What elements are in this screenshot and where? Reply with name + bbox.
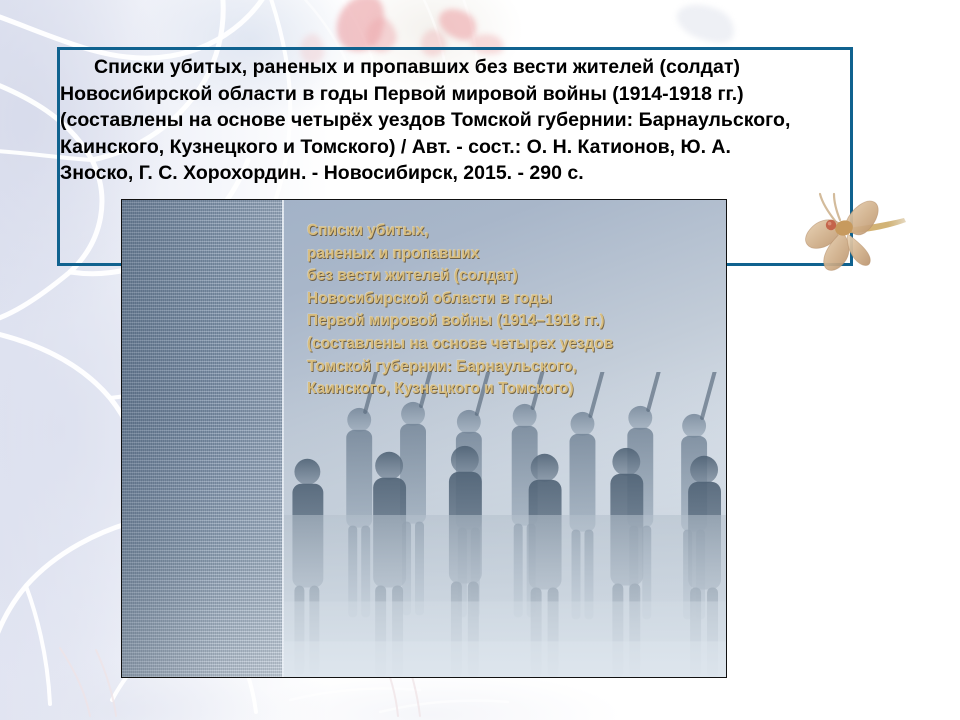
cover-title-line: раненых и пропавших [307, 243, 707, 266]
title-line: Каинского, Кузнецкого и Томского) / Авт.… [60, 134, 860, 161]
book-spine-shading [122, 200, 282, 677]
title-line: Новосибирской области в годы Первой миро… [60, 81, 860, 108]
book-cover-image: Списки убитых, раненых и пропавших без в… [121, 199, 727, 678]
cover-title-line: Новосибирской области в годы [307, 288, 707, 311]
slide-canvas: Списки убитых, раненых и пропавших без в… [0, 0, 960, 720]
cover-title-line: Списки убитых, [307, 220, 707, 243]
dragonfly-icon [800, 192, 920, 307]
petal-shape [672, 0, 740, 50]
title-line: (составлены на основе четырёх уездов Том… [60, 107, 860, 134]
cover-title-line: без вести жителей (солдат) [307, 265, 707, 288]
title-line: Зноско, Г. С. Хорохордин. - Новосибирск,… [60, 160, 860, 187]
title-line: Списки убитых, раненых и пропавших без в… [60, 54, 860, 81]
book-cover-title: Списки убитых, раненых и пропавших без в… [307, 220, 707, 401]
cover-title-line: Первой мировой войны (1914–1918 гг.) [307, 310, 707, 333]
page-title: Списки убитых, раненых и пропавших без в… [60, 54, 860, 187]
cover-title-line: Томской губернии: Барнаульского, [307, 356, 707, 379]
cover-title-line: (составлены на основе четырех уездов [307, 333, 707, 356]
cover-title-line: Каинского, Кузнецкого и Томского) [307, 378, 707, 401]
petal-shape [434, 2, 483, 47]
